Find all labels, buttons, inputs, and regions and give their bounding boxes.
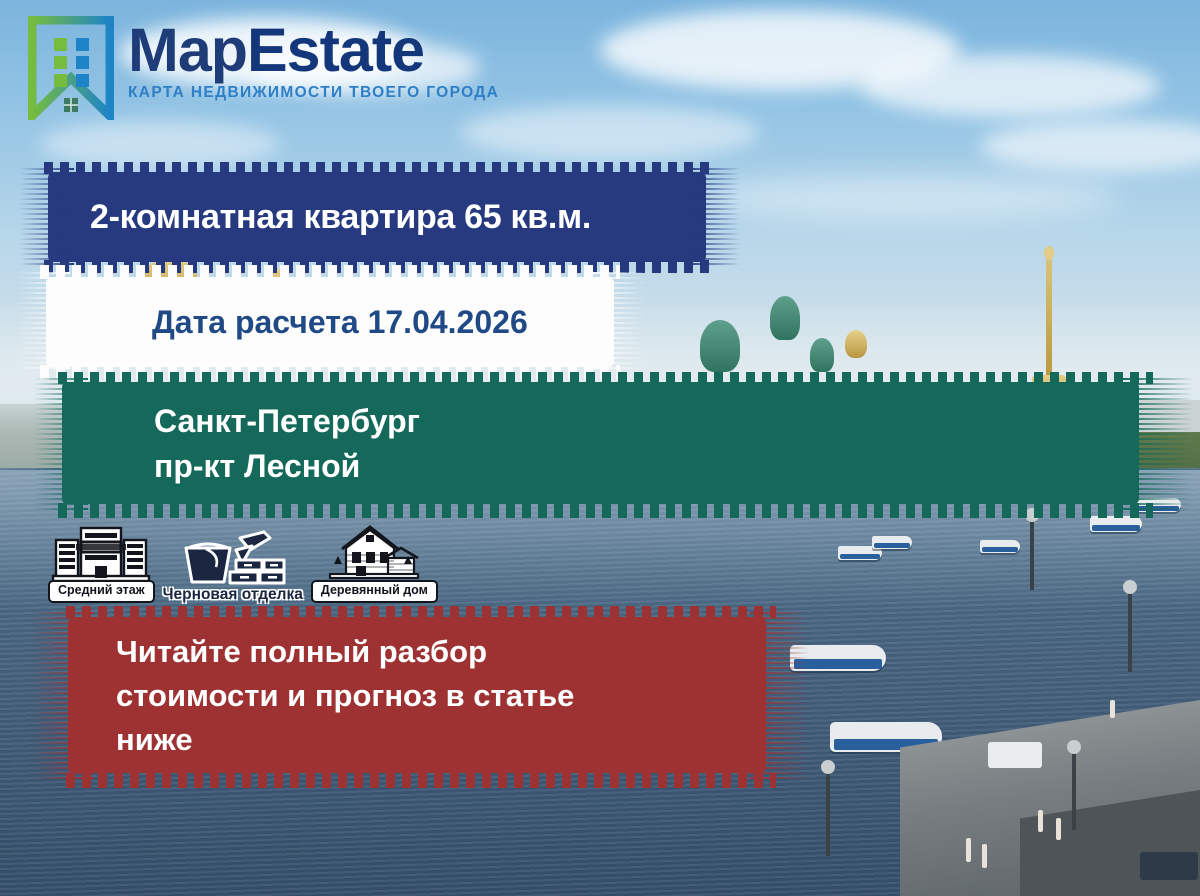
location-banner: Санкт-Петербург пр-кт Лесной xyxy=(48,378,1163,510)
property-banner-text: 2-комнатная квартира 65 кв.м. xyxy=(34,198,724,237)
paint-bucket-trowel-bricks-icon xyxy=(178,530,288,588)
green-dome xyxy=(770,296,800,340)
pedestrian xyxy=(966,838,971,862)
cloud xyxy=(40,120,280,168)
feature-badges: Средний этаж xyxy=(48,524,438,603)
date-banner-text: Дата расчета 17.04.2026 xyxy=(30,304,630,341)
badge-middle-floor[interactable]: Средний этаж xyxy=(48,524,155,603)
cta-banner[interactable]: Читайте полный разбор стоимости и прогно… xyxy=(56,612,786,780)
badge-rough-finish[interactable]: Черновая отделка xyxy=(163,530,303,603)
green-dome xyxy=(810,338,834,372)
location-banner-text: Санкт-Петербург пр-кт Лесной xyxy=(48,399,1163,490)
pedestrian xyxy=(982,844,987,868)
logo-word-estate: Estate xyxy=(247,16,424,84)
cloud xyxy=(700,175,1120,220)
street-lamp xyxy=(1030,520,1034,590)
apartment-building-icon xyxy=(51,524,151,582)
badge-wooden-house[interactable]: Деревянный дом xyxy=(311,524,438,603)
bookmark-building-icon xyxy=(28,16,114,120)
cloud xyxy=(460,105,760,160)
pedestrian xyxy=(1038,810,1043,832)
tour-boat xyxy=(1090,516,1142,532)
pedestrian xyxy=(1110,700,1115,718)
badge-label: Черновая отделка xyxy=(163,586,303,603)
date-banner: Дата расчета 17.04.2026 xyxy=(30,272,630,372)
fortress-spire xyxy=(1046,258,1052,380)
cta-line-2: стоимости и прогноз в статье xyxy=(116,674,786,718)
poster: MapEstate КАРТА НЕДВИЖИМОСТИ ТВОЕГО ГОРО… xyxy=(0,0,1200,896)
wooden-house-icon xyxy=(326,524,422,582)
property-banner: 2-комнатная квартира 65 кв.м. xyxy=(34,168,724,266)
cta-line-3: ниже xyxy=(116,718,786,762)
tour-boat xyxy=(872,536,912,549)
logo-tagline: КАРТА НЕДВИЖИМОСТИ ТВОЕГО ГОРОДА xyxy=(128,84,499,102)
pedestrian xyxy=(1056,818,1061,840)
golden-dome xyxy=(845,330,867,358)
logo-word-map: Map xyxy=(128,16,247,84)
location-city: Санкт-Петербург xyxy=(154,399,1163,444)
cta-banner-text: Читайте полный разбор стоимости и прогно… xyxy=(56,630,786,763)
van xyxy=(988,742,1042,768)
logo-wordmark: MapEstate xyxy=(128,22,499,80)
cta-line-1: Читайте полный разбор xyxy=(116,630,786,674)
badge-label: Деревянный дом xyxy=(311,580,438,603)
street-lamp xyxy=(826,772,830,856)
location-street: пр-кт Лесной xyxy=(154,444,1163,489)
street-lamp xyxy=(1072,752,1076,830)
brand-logo[interactable]: MapEstate КАРТА НЕДВИЖИМОСТИ ТВОЕГО ГОРО… xyxy=(28,16,499,120)
car xyxy=(1140,852,1198,880)
cloud xyxy=(860,55,1160,117)
green-dome xyxy=(700,320,740,372)
logo-text: MapEstate КАРТА НЕДВИЖИМОСТИ ТВОЕГО ГОРО… xyxy=(128,16,499,102)
badge-label: Средний этаж xyxy=(48,580,155,603)
tour-boat xyxy=(980,540,1020,553)
street-lamp xyxy=(1128,592,1132,672)
